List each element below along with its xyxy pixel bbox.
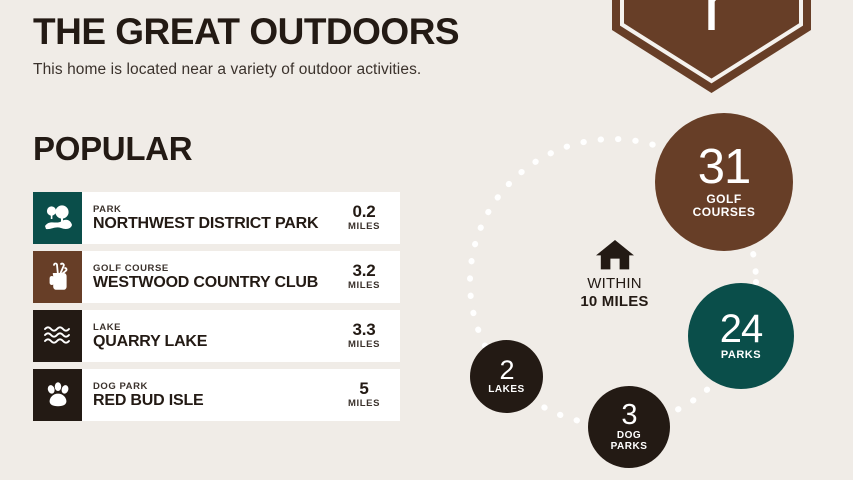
within-radius-note: WITHIN 10 MILES [557, 240, 672, 310]
distance-value: 0.2 [336, 203, 392, 221]
list-item-category: PARK [93, 204, 336, 216]
within-label-line2: 10 MILES [557, 293, 672, 310]
distance-value: 3.3 [336, 321, 392, 339]
shield-badge [612, 0, 811, 93]
water-waves-icon [33, 310, 82, 362]
distance-unit: MILES [336, 339, 392, 351]
distance-unit: MILES [336, 398, 392, 410]
stat-label-line2: PARKS [611, 441, 648, 452]
list-item[interactable]: PARK NORTHWEST DISTRICT PARK 0.2 MILES [33, 192, 400, 244]
list-item-category: GOLF COURSE [93, 263, 336, 275]
list-item-distance: 3.2 MILES [336, 262, 400, 292]
stat-count: 3 [621, 402, 636, 430]
list-item-name: QUARRY LAKE [93, 333, 336, 351]
popular-heading: POPULAR [33, 132, 192, 165]
stat-bubble-parks[interactable]: 24 PARKS [688, 283, 794, 389]
stat-count: 24 [720, 310, 763, 348]
paw-print-icon [33, 369, 82, 421]
popular-list: PARK NORTHWEST DISTRICT PARK 0.2 MILES [33, 192, 400, 428]
stat-bubble-dog-parks[interactable]: 3 DOG PARKS [588, 386, 670, 468]
page-title: THE GREAT OUTDOORS [33, 13, 459, 52]
stat-label-line2: COURSES [693, 206, 756, 219]
within-label-line1: WITHIN [557, 276, 672, 293]
list-item-category: DOG PARK [93, 381, 336, 393]
list-item-name: RED BUD ISLE [93, 392, 336, 410]
list-item[interactable]: DOG PARK RED BUD ISLE 5 MILES [33, 369, 400, 421]
stat-label-line1: LAKES [488, 384, 524, 395]
infographic-canvas: THE GREAT OUTDOORS This home is located … [0, 0, 853, 480]
page-subtitle: This home is located near a variety of o… [33, 61, 421, 79]
list-item-distance: 5 MILES [336, 380, 400, 410]
list-item[interactable]: LAKE QUARRY LAKE 3.3 MILES [33, 310, 400, 362]
stat-count: 2 [499, 358, 513, 384]
list-item-distance: 0.2 MILES [336, 203, 400, 233]
list-item-name: NORTHWEST DISTRICT PARK [93, 215, 336, 233]
list-item-category: LAKE [93, 322, 336, 334]
park-trees-icon [33, 192, 82, 244]
distance-value: 5 [336, 380, 392, 398]
list-item-name: WESTWOOD COUNTRY CLUB [93, 274, 336, 292]
stat-label-line1: GOLF [706, 193, 741, 206]
stat-bubble-lakes[interactable]: 2 LAKES [470, 340, 543, 413]
stat-label-line1: PARKS [721, 349, 761, 361]
stat-count: 31 [698, 144, 751, 191]
stat-bubble-golf-courses[interactable]: 31 GOLF COURSES [655, 113, 793, 251]
list-item-distance: 3.3 MILES [336, 321, 400, 351]
home-icon [596, 240, 634, 270]
golf-bag-icon [33, 251, 82, 303]
list-item[interactable]: GOLF COURSE WESTWOOD COUNTRY CLUB 3.2 MI… [33, 251, 400, 303]
distance-value: 3.2 [336, 262, 392, 280]
distance-unit: MILES [336, 280, 392, 292]
stat-label-line1: DOG [617, 430, 641, 441]
distance-unit: MILES [336, 221, 392, 233]
